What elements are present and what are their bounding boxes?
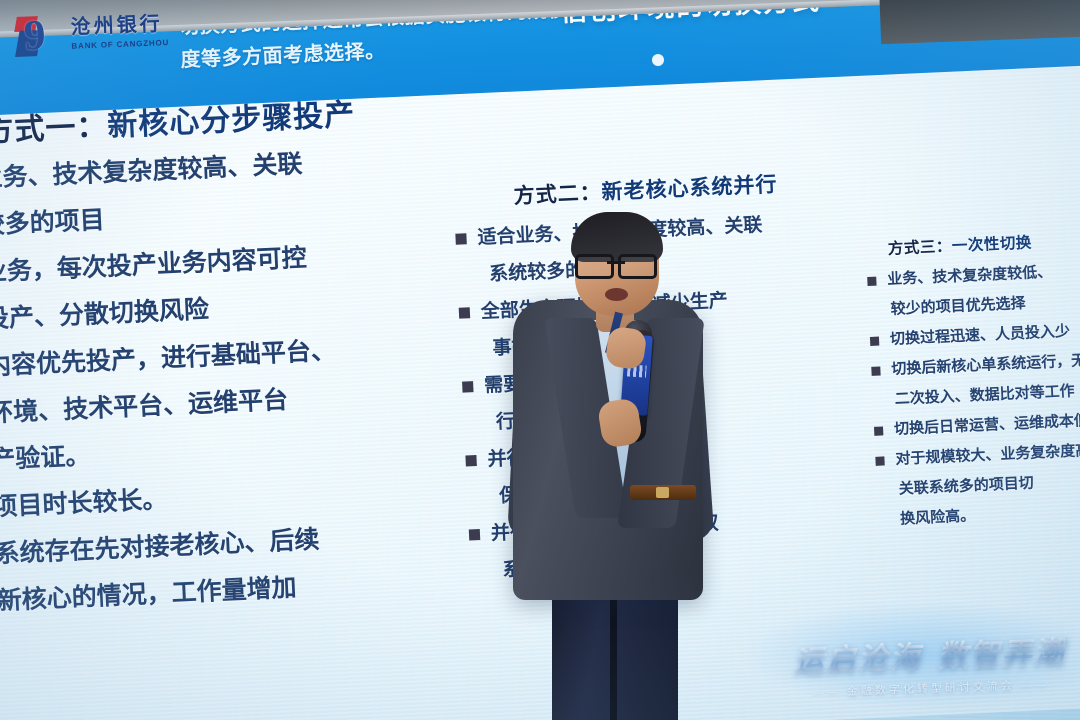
event-logo-dash-right: —— <box>1021 679 1049 692</box>
event-logo: 运启沧海数智弄潮 —— 金融数字化转型研讨交流会 —— <box>793 627 1067 700</box>
column-one-title-prefix: 方式一： <box>0 110 108 149</box>
bank-logo-text: 沧州银行 BANK OF CANGZHOU <box>70 14 169 52</box>
slide-column-one: 方式一：新核心分步骤投产 适合业务、技术复杂度较高、关联 系统较多的项目 拆分业… <box>0 88 467 627</box>
event-logo-dash-left: —— <box>813 686 841 699</box>
ceiling-dark-panel <box>879 0 1080 44</box>
speaker-glasses-icon <box>575 254 657 274</box>
bullet-square-icon <box>871 366 880 375</box>
event-logo-title: 运启沧海数智弄潮 <box>793 627 1066 680</box>
bullet-square-icon <box>870 336 879 345</box>
bullet-square-icon <box>469 529 480 540</box>
slide-column-three: 方式三：一次性切换 业务、技术复杂度较低、 较少的项目优先选择 切换过程迅速、人… <box>865 224 1080 535</box>
column-three-b2-l0-text: 切换后新核心单系统运行，无需 <box>891 351 1080 378</box>
bullet-square-icon <box>455 234 466 245</box>
bank-name-en: BANK OF CANGZHOU <box>71 37 169 52</box>
column-three-b1-l0-text: 切换过程迅速、人员投入少 <box>890 323 1071 348</box>
bank-logo-icon: 9 <box>15 13 63 59</box>
event-logo-title-right: 数智弄潮 <box>937 636 1066 673</box>
bullet-square-icon <box>874 426 883 435</box>
event-logo-title-left: 运启沧海 <box>793 641 922 678</box>
column-three-b4-l0-text: 对于规模较大、业务复杂度高、 <box>895 441 1080 468</box>
column-three-title-prefix: 方式三： <box>888 238 953 258</box>
column-three-b3-l0-text: 切换后日常运营、运维成本低 <box>894 412 1080 438</box>
bullet-dot-icon-secondary <box>652 54 664 66</box>
speaker-mouth <box>605 288 628 301</box>
bullet-square-icon <box>867 276 876 285</box>
column-one-title-main: 新核心分步骤投产 <box>107 99 356 143</box>
speaker-belt <box>630 485 696 500</box>
column-three-b0-l0-text: 业务、技术复杂度较低、 <box>887 264 1053 288</box>
logo-swirl-glyph: 9 <box>23 14 62 57</box>
column-two-title-prefix: 方式二： <box>513 181 602 208</box>
bank-name-cn: 沧州银行 <box>70 14 168 39</box>
bullet-square-icon <box>459 308 470 319</box>
bullet-square-icon <box>462 382 473 393</box>
bullet-square-icon <box>875 456 884 465</box>
screenshot-root: 主流的切换方式为三种：新老核心系统并行使用、新核心分步骤投产、一次性切换。 切换… <box>0 0 1080 720</box>
bullet-square-icon <box>465 456 476 467</box>
event-logo-title-gap <box>922 667 938 668</box>
column-two-title-main: 新老核心系统并行 <box>601 173 778 204</box>
speaker-glasses-bridge <box>607 261 625 264</box>
column-three-title-main: 一次性切换 <box>952 235 1033 256</box>
bank-logo: 9 沧州银行 BANK OF CANGZHOU <box>15 9 169 59</box>
